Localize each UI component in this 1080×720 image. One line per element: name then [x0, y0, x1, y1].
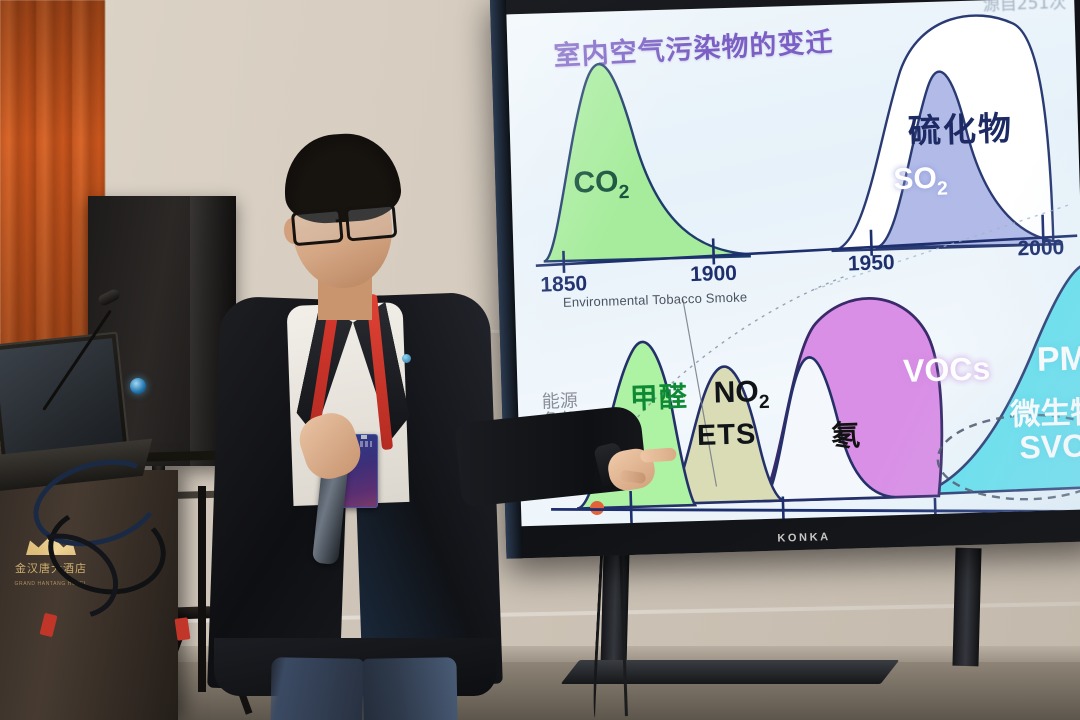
presenter-legs	[252, 658, 468, 720]
x-tick-label: 2000	[1017, 236, 1064, 261]
coiled-cable	[8, 452, 176, 612]
series-label-vocs: VOCs	[903, 350, 991, 390]
presenter	[206, 118, 676, 720]
series-label-microbes: 微生物	[1010, 387, 1080, 434]
series-label-svoc: SVOC	[1019, 427, 1080, 467]
presenter-leg-left	[268, 657, 363, 720]
presenter-pointing-hand	[604, 435, 676, 497]
slide-source-note: 源自251次	[982, 0, 1066, 15]
series-label-pm: PM	[1036, 339, 1080, 379]
series-label-ets: ETS	[696, 418, 756, 453]
axis-tick	[713, 238, 714, 264]
series-label-no2: NO2	[713, 375, 770, 416]
lapel-pin-icon	[402, 354, 411, 363]
presenter-leg-right	[362, 657, 459, 720]
series-label-radon: 氡	[830, 412, 860, 455]
conference-presentation-photo: 金汉唐大酒店 GRAND HANTANG HOTEL KONKA 室内空气污染物…	[0, 0, 1080, 720]
gooseneck-microphone-stem	[42, 290, 134, 408]
series-label-so2: SO2	[893, 161, 948, 202]
series-label-sulfides: 硫化物	[907, 102, 1013, 153]
